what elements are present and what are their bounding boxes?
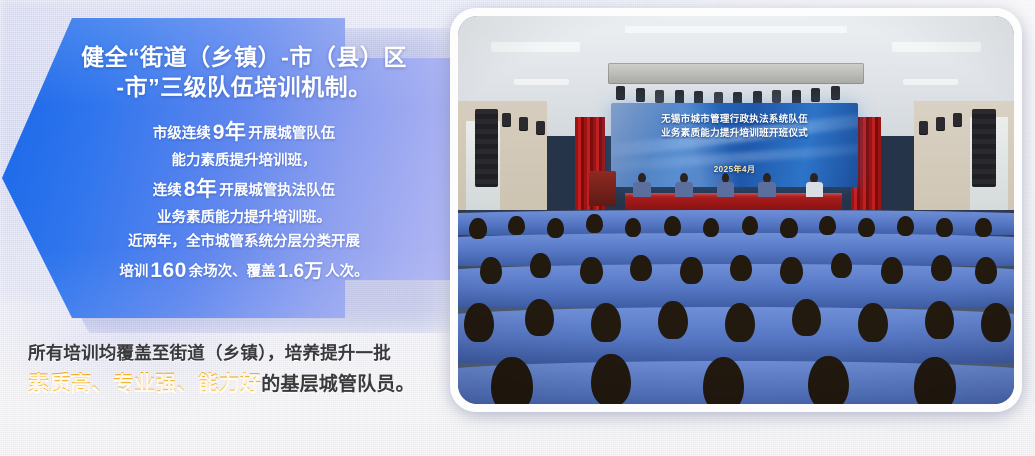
card-headline: 健全“街道（乡镇）-市（县）区 -市”三级队伍培训机制。 bbox=[58, 42, 430, 103]
stat-5-post: 近两年，全市城管系统分层分类开展 bbox=[128, 234, 360, 250]
photo-frame: 无锡市城市管理行政执法系统队伍 业务素质能力提升培训班开班仪式 2025年4月 bbox=[450, 8, 1022, 412]
stat-1-pre: 市级连续 bbox=[153, 126, 211, 142]
stat-row-4: 业务素质能力提升培训班。 bbox=[58, 207, 430, 230]
final-c: 人次。 bbox=[325, 264, 369, 280]
final-a: 培训 bbox=[119, 264, 148, 280]
final-b: 余场次、覆盖 bbox=[189, 264, 276, 280]
final-number-sessions: 160 bbox=[148, 259, 188, 282]
caption-line-2-tail: 的基层城管队员。 bbox=[261, 374, 415, 395]
caption-highlight: 素质高、专业强、能力好 bbox=[28, 372, 261, 395]
speaker-left bbox=[475, 109, 498, 187]
stat-row-2: 能力素质提升培训班， bbox=[58, 150, 430, 173]
stat-row-3: 连续8年开展城管执法队伍 bbox=[58, 173, 430, 207]
stat-3-pre: 连续 bbox=[153, 183, 182, 199]
banner-line-2: 业务素质能力提升培训班开班仪式 bbox=[611, 127, 858, 141]
card-headline-line-1: 健全“街道（乡镇）-市（县）区 bbox=[58, 42, 430, 72]
stat-row-6: 培训160余场次、覆盖1.6万人次。 bbox=[58, 254, 430, 288]
stat-row-1: 市级连续9年开展城管队伍 bbox=[58, 116, 430, 150]
stat-4-post: 业务素质能力提升培训班。 bbox=[157, 210, 331, 226]
info-card: 健全“街道（乡镇）-市（县）区 -市”三级队伍培训机制。 市级连续9年开展城管队… bbox=[0, 18, 452, 336]
stat-1-post: 开展城管队伍 bbox=[248, 126, 335, 142]
caption-line-1: 所有培训均覆盖至街道（乡镇），培养提升一批 bbox=[28, 340, 448, 366]
bottom-caption: 所有培训均覆盖至街道（乡镇），培养提升一批 素质高、专业强、能力好的基层城管队员… bbox=[28, 340, 448, 400]
stat-3-number: 8年 bbox=[182, 178, 219, 201]
lighting-truss bbox=[608, 63, 864, 84]
card-stats: 市级连续9年开展城管队伍 能力素质提升培训班， 连续8年开展城管执法队伍 业务素… bbox=[58, 116, 430, 289]
banner-text: 无锡市城市管理行政执法系统队伍 业务素质能力提升培训班开班仪式 bbox=[611, 113, 858, 141]
stat-row-5: 近两年，全市城管系统分层分类开展 bbox=[58, 231, 430, 254]
final-number-attendance: 1.6万 bbox=[276, 261, 325, 282]
speaker-right bbox=[972, 109, 995, 187]
card-headline-line-2: -市”三级队伍培训机制。 bbox=[58, 72, 430, 102]
banner-line-1: 无锡市城市管理行政执法系统队伍 bbox=[611, 113, 858, 127]
event-photo: 无锡市城市管理行政执法系统队伍 业务素质能力提升培训班开班仪式 2025年4月 bbox=[458, 16, 1014, 404]
stat-1-number: 9年 bbox=[211, 121, 248, 144]
caption-line-2: 素质高、专业强、能力好的基层城管队员。 bbox=[28, 368, 448, 400]
podium bbox=[589, 171, 617, 206]
stat-2-post: 能力素质提升培训班， bbox=[172, 153, 317, 169]
stat-3-post: 开展城管执法队伍 bbox=[219, 183, 335, 199]
